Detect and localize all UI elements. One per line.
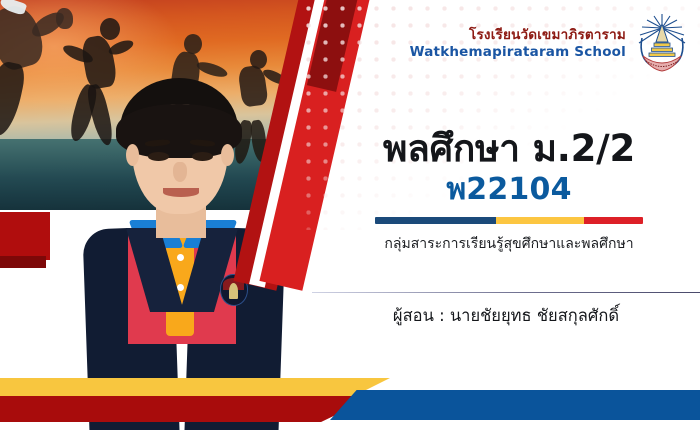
- tricolor-segment-red: [584, 217, 643, 224]
- tricolor-divider: [375, 217, 643, 224]
- ear-right: [221, 144, 234, 166]
- tricolor-segment-blue: [375, 217, 496, 224]
- course-code: พ22104: [330, 173, 688, 208]
- bottom-stripe-red: [0, 396, 375, 422]
- runner-silhouette-1-hand: [56, 8, 73, 29]
- tricolor-segment-yellow: [496, 217, 584, 224]
- polo-button-bottom: [177, 284, 184, 291]
- eye-left: [148, 152, 169, 161]
- school-emblem-icon: [634, 12, 690, 76]
- polo-button-top: [177, 254, 184, 261]
- teacher-name: ผู้สอน : นายชัยยุทธ ชัยสกุลศักดิ์: [330, 303, 682, 329]
- subject-group-label: กลุ่มสาระการเรียนรู้สุขศึกษาและพลศึกษา: [330, 233, 688, 255]
- school-name-en: Watkhemapirataram School: [410, 44, 626, 61]
- course-title-slide: โรงเรียนวัดเขมาภิรตาราม Watkhemapiratara…: [0, 0, 700, 430]
- crest-pagoda: [229, 283, 238, 299]
- school-header: โรงเรียนวัดเขมาภิรตาราม Watkhemapiratara…: [410, 12, 690, 76]
- title-block: พลศึกษา ม.2/2 พ22104 กลุ่มสาระการเรียนรู…: [330, 128, 688, 255]
- page-title: พลศึกษา ม.2/2: [330, 128, 688, 169]
- horizontal-rule: [312, 292, 700, 293]
- school-name-block: โรงเรียนวัดเขมาภิรตาราม Watkhemapiratara…: [410, 27, 626, 61]
- bottom-stripe-blue: [330, 390, 700, 420]
- red-accent-block: [0, 212, 50, 260]
- bottom-stripe-yellow: [0, 378, 390, 398]
- ear-left: [126, 144, 139, 166]
- mouth: [163, 188, 199, 197]
- school-name-th: โรงเรียนวัดเขมาภิรตาราม: [410, 27, 626, 44]
- eye-right: [192, 152, 213, 161]
- red-accent-block-shadow: [0, 256, 46, 268]
- nose: [173, 162, 187, 182]
